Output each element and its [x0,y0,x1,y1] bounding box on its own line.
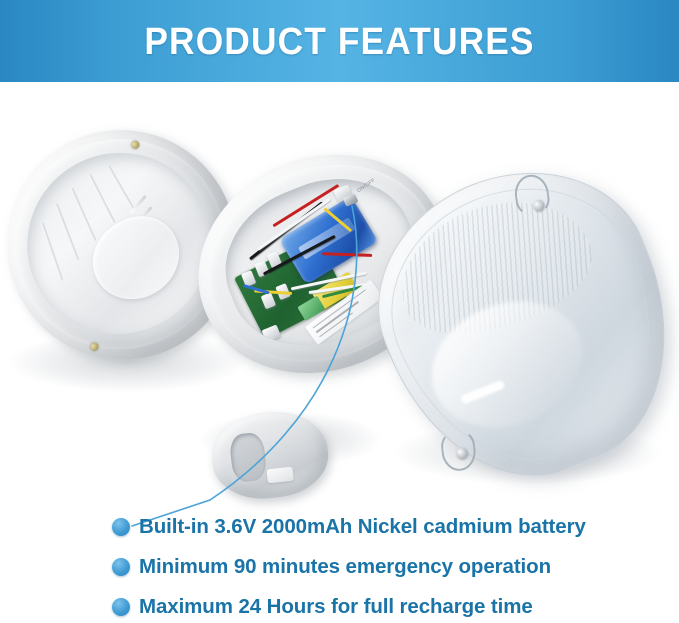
product-image: ON/OFF [0,82,679,502]
list-item: Maximum 24 Hours for full recharge time [112,592,672,623]
feature-text: Minimum 90 minutes emergency operation [139,552,551,582]
list-item: Minimum 90 minutes emergency operation [112,552,672,585]
bullet-dot-icon [112,558,130,576]
rib [54,204,78,262]
feature-text: Maximum 24 Hours for full recharge time [139,592,533,622]
product-features-page: PRODUCT FEATURES [0,0,679,623]
feature-list: Built-in 3.6V 2000mAh Nickel cadmium bat… [112,512,672,623]
header-banner: PRODUCT FEATURES [0,0,679,84]
knuckle-tab [267,466,294,482]
rib [130,195,146,213]
bullet-dot-icon [112,598,130,616]
list-item: Built-in 3.6V 2000mAh Nickel cadmium bat… [112,512,672,545]
rib [41,223,63,282]
page-title: PRODUCT FEATURES [24,21,655,63]
feature-text: Built-in 3.6V 2000mAh Nickel cadmium bat… [139,512,586,542]
rib [107,165,133,208]
bullet-dot-icon [112,518,130,536]
rib [71,187,97,241]
rib [89,174,116,223]
knuckle-slot [228,432,268,484]
